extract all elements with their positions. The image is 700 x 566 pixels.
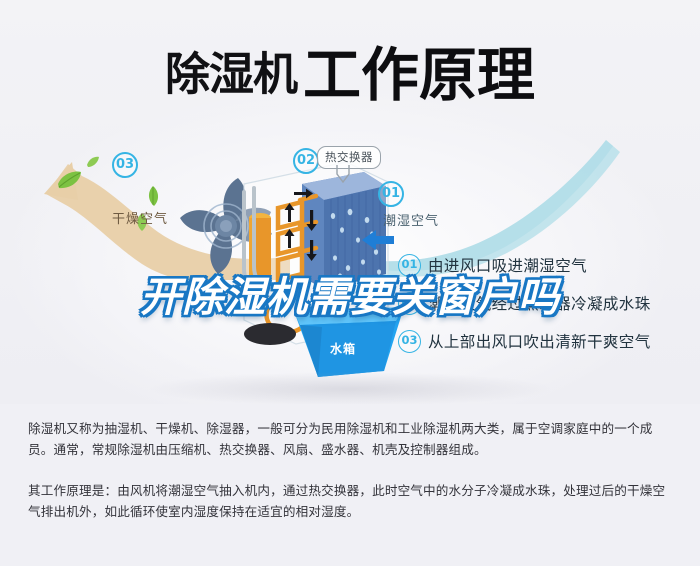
label-dry-air: 干燥空气 [112,208,168,227]
page-title: 除湿机工作原理 [0,28,700,112]
legend-label: 从上部出风口吹出清新干爽空气 [428,330,651,352]
diagram-badge-02: 02 [293,148,319,174]
diagram-badge-01: 01 [378,181,404,207]
hero-illustration: 除湿机工作原理 [0,0,700,404]
page-title-part1: 除湿机 [165,48,297,101]
label-water-tank: 水箱 [330,340,356,357]
paragraph-2: 其工作原理是：由风机将潮湿空气抽入机内，通过热交换器，此时空气中的水分子冷凝成水… [28,480,676,522]
legend-item: 03 从上部出风口吹出清新干爽空气 [398,322,694,360]
article-body: 除湿机又称为抽湿机、干燥机、除湿器，一般可分为民用除湿机和工业除湿机两大类，属于… [28,418,676,522]
heat-exchanger-callout: 热交换器 [317,146,381,169]
diagram-badge-03: 03 [112,152,138,178]
page-title-part2: 工作原理 [303,41,535,109]
overlay-headline: 开除湿机需要关窗户吗 [0,263,700,323]
paragraph-1: 除湿机又称为抽湿机、干燥机、除湿器，一般可分为民用除湿机和工业除湿机两大类，属于… [28,418,676,460]
label-humid-air: 潮湿空气 [383,210,439,229]
legend-number: 03 [398,330,421,353]
